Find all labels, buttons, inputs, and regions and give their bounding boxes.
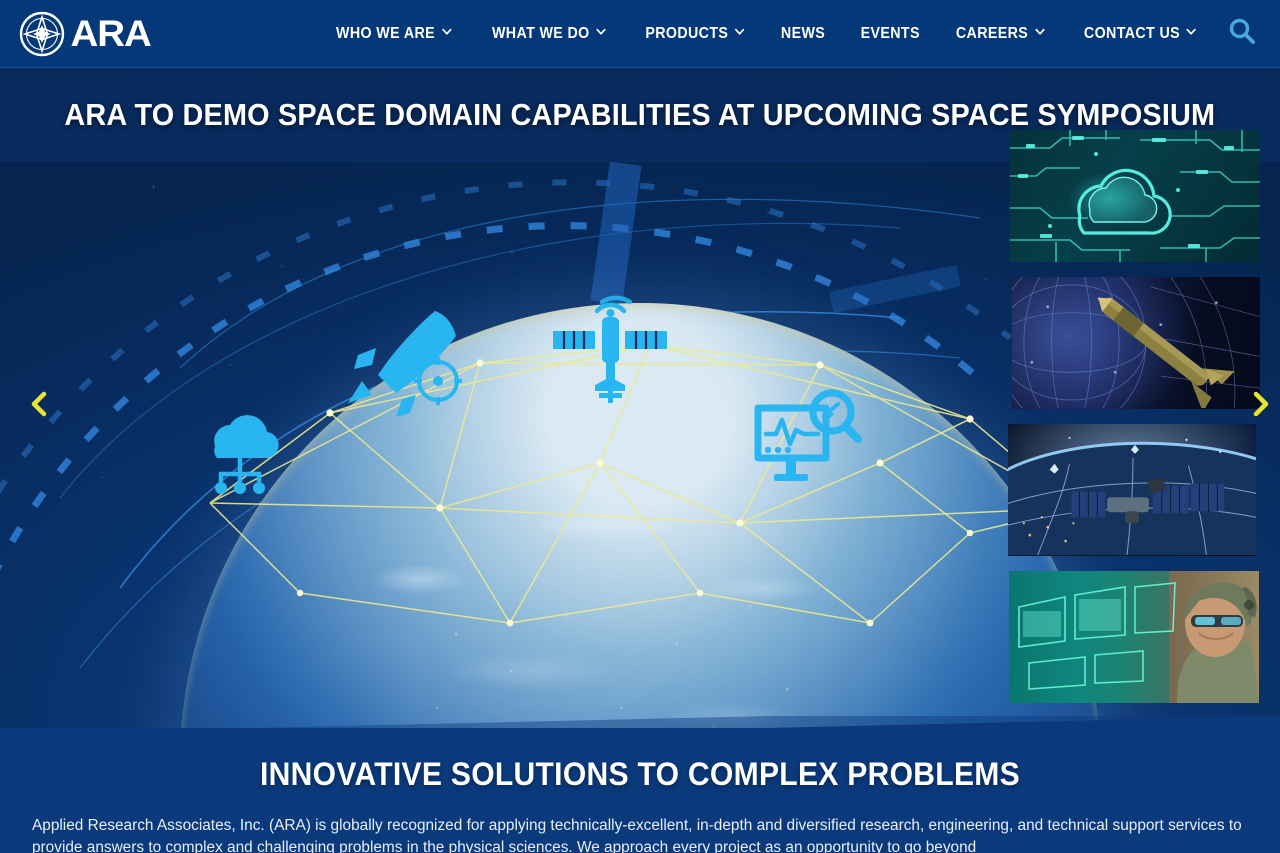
wireframe-globe-missile-decoration — [1012, 277, 1260, 408]
chevron-down-icon — [596, 26, 606, 37]
chevron-left-icon — [25, 389, 55, 424]
rocket-icon — [340, 303, 465, 428]
intro-paragraph: Applied Research Associates, Inc. (ARA) … — [32, 815, 1248, 853]
section-diagonal-divider — [0, 716, 1280, 728]
thumbnail-satellite[interactable] — [1008, 424, 1256, 556]
satellite-icon — [545, 293, 675, 408]
nav-item-contact-us[interactable]: CONTACT US — [1070, 15, 1210, 53]
nav-label: WHO WE ARE — [336, 25, 435, 43]
carousel-next-button[interactable] — [1240, 386, 1280, 426]
site-logo[interactable]: ARA — [18, 10, 149, 58]
nav-item-news[interactable]: NEWS — [768, 15, 840, 53]
main-navigation: WHO WE ARE WHAT WE DO PRODUCTS NEWS — [316, 14, 1270, 54]
nav-label: CAREERS — [956, 25, 1028, 43]
monitor-analytics-icon — [752, 386, 862, 486]
nav-item-events[interactable]: EVENTS — [846, 15, 933, 53]
logo-wordmark: ARA — [70, 15, 150, 52]
chevron-down-icon — [1035, 26, 1045, 37]
nav-label: CONTACT US — [1083, 25, 1179, 43]
section-title: INNOVATIVE SOLUTIONS TO COMPLEX PROBLEMS — [38, 728, 1241, 793]
search-icon — [1227, 16, 1257, 51]
nav-item-what-we-do[interactable]: WHAT WE DO — [478, 15, 620, 53]
thumbnail-missile[interactable] — [1012, 277, 1260, 409]
nav-label: EVENTS — [860, 25, 919, 43]
nav-label: WHAT WE DO — [492, 25, 590, 43]
carousel-prev-button[interactable] — [20, 386, 60, 426]
nav-item-who-we-are[interactable]: WHO WE ARE — [323, 15, 466, 53]
circuit-board-decoration — [1010, 130, 1260, 262]
ara-compass-logo-icon — [18, 10, 66, 58]
page-root: ARA WHO WE ARE WHAT WE DO PRODUCTS — [0, 0, 1280, 853]
search-button[interactable] — [1222, 14, 1262, 54]
nav-item-careers[interactable]: CAREERS — [942, 15, 1058, 53]
chevron-down-icon — [442, 26, 452, 37]
chevron-down-icon — [1186, 26, 1196, 37]
cloud-network-icon — [195, 398, 285, 498]
chevron-right-icon — [1245, 389, 1275, 424]
nav-label: NEWS — [781, 25, 825, 43]
hero-headline-text: ARA TO DEMO SPACE DOMAIN CAPABILITIES AT… — [65, 97, 1216, 133]
satellite-network-decoration — [1008, 424, 1256, 555]
nav-label: PRODUCTS — [646, 25, 729, 43]
augmented-reality-soldier-decoration — [1009, 571, 1259, 703]
site-header: ARA WHO WE ARE WHAT WE DO PRODUCTS — [0, 0, 1280, 68]
thumbnail-cloud-circuit[interactable] — [1010, 130, 1260, 262]
carousel-thumbnail-list — [1010, 130, 1262, 718]
intro-section: INNOVATIVE SOLUTIONS TO COMPLEX PROBLEMS… — [0, 728, 1280, 853]
nav-item-products[interactable]: PRODUCTS — [632, 15, 759, 53]
chevron-down-icon — [735, 26, 745, 37]
thumbnail-soldier-ar[interactable] — [1009, 571, 1259, 703]
